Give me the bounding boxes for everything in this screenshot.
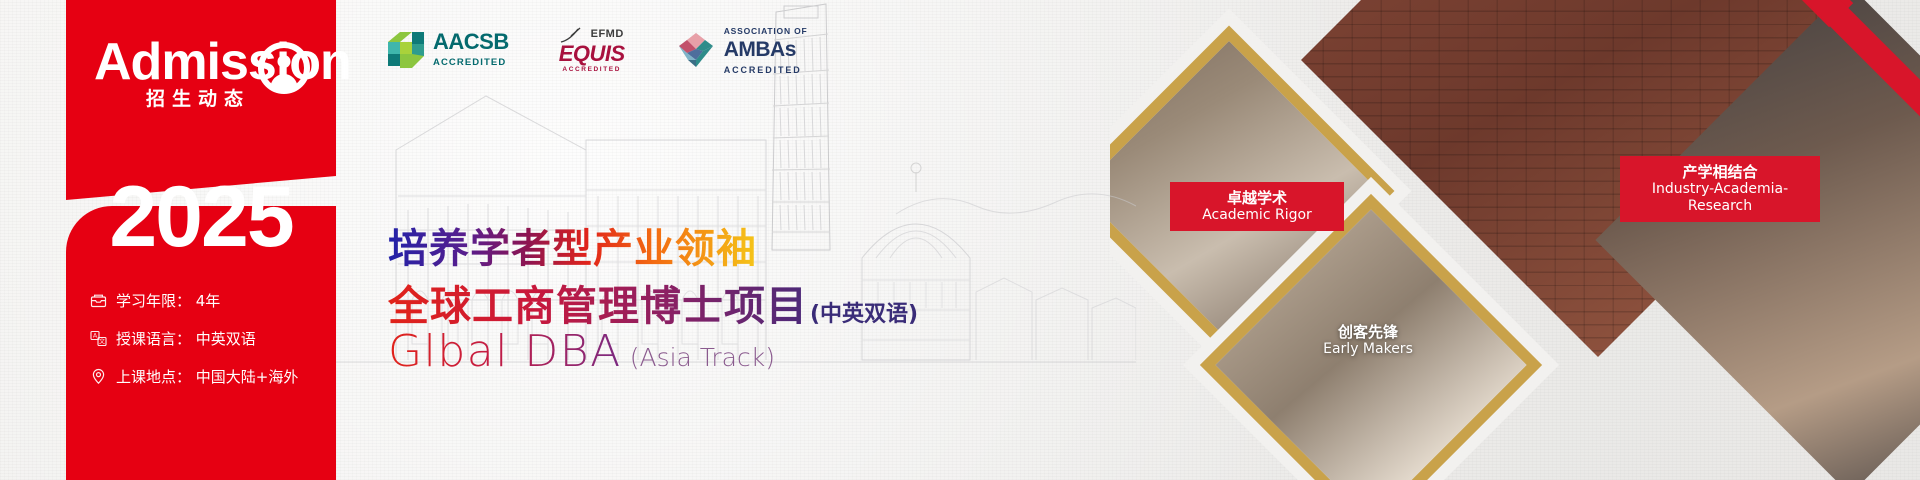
center-content: AACSB ACCREDITED EFMD EQUIS ACCREDITED: [336, 0, 1136, 480]
info-row-language: A 文 授课语言： 中英双语: [90, 328, 340, 349]
label-industry-academia: 产学相结合 Industry-Academia-Research: [1620, 156, 1820, 222]
admission-logo: Admission 招生动态: [94, 36, 344, 146]
calendar-icon: [90, 292, 107, 309]
label-academic-rigor-cn: 卓越学术: [1184, 189, 1330, 207]
program-info-list: 学习年限： 4年 A 文 授课语言： 中英双语: [90, 290, 340, 404]
svg-text:A: A: [93, 333, 98, 340]
svg-text:文: 文: [99, 338, 105, 346]
label-academic-rigor-en: Academic Rigor: [1184, 207, 1330, 224]
aacsb-text: AACSB ACCREDITED: [433, 31, 509, 69]
person-body-shape: [271, 74, 298, 89]
admission-year: 2025: [66, 174, 336, 260]
efmd-text: EFMD: [591, 29, 624, 40]
photo-collage: 卓越学术 Academic Rigor 产学相结合 Industry-Acade…: [1110, 0, 1920, 480]
left-red-panel: Admission 招生动态 2025 学习年限： 4年: [66, 0, 336, 480]
info-row-location: 上课地点： 中国大陆+海外: [90, 366, 340, 387]
info-row-duration-text: 学习年限： 4年: [116, 290, 220, 311]
amba-diamond-icon: [675, 29, 717, 71]
admission-wordmark-cn: 招生动态: [146, 84, 250, 111]
admission-banner: 卓越学术 Academic Rigor 产学相结合 Industry-Acade…: [0, 0, 1920, 480]
headline-tagline: 培养学者型产业领袖: [388, 216, 757, 274]
amba-name: AMBAs: [724, 38, 796, 61]
accreditation-aacsb: AACSB ACCREDITED: [386, 30, 509, 70]
headline-asia-track: (Asia Track): [630, 343, 775, 377]
label-industry-academia-en: Industry-Academia-Research: [1634, 181, 1806, 215]
aacsb-squares-icon: [386, 30, 426, 70]
aacsb-sub: ACCREDITED: [433, 57, 506, 68]
accreditation-amba: ASSOCIATION OF AMBAs ACCREDITED: [675, 22, 808, 78]
amba-text: ASSOCIATION OF AMBAs ACCREDITED: [724, 22, 808, 78]
headline-program-title: 全球工商管理博士项目 (中英双语): [388, 272, 918, 332]
accreditation-logos: AACSB ACCREDITED EFMD EQUIS ACCREDITED: [386, 22, 807, 78]
label-early-makers-en: Early Makers: [1284, 341, 1452, 358]
label-academic-rigor: 卓越学术 Academic Rigor: [1170, 182, 1344, 231]
person-badge-icon: [258, 42, 310, 94]
equis-sub: ACCREDITED: [559, 67, 625, 74]
info-row-language-text: 授课语言： 中英双语: [116, 328, 256, 349]
headline-bilingual-tag: (中英双语): [810, 296, 918, 332]
headline-dba-en: Glbal DBA: [388, 326, 622, 377]
headline-program-title-en: Glbal DBA (Asia Track): [388, 326, 775, 377]
amba-assoc: ASSOCIATION OF: [724, 26, 808, 36]
equis-name: EQUIS: [559, 41, 625, 66]
label-early-makers-cn: 创客先锋: [1284, 323, 1452, 341]
translate-icon: A 文: [90, 330, 107, 347]
headline-program-title-main: 全球工商管理博士项目: [388, 272, 808, 332]
info-row-duration: 学习年限： 4年: [90, 290, 340, 311]
amba-sub: ACCREDITED: [724, 65, 802, 75]
accreditation-equis: EFMD EQUIS ACCREDITED: [559, 27, 625, 74]
person-head-shape: [278, 55, 291, 68]
location-pin-icon: [90, 368, 107, 385]
info-row-location-text: 上课地点： 中国大陆+海外: [116, 366, 298, 387]
label-early-makers: 创客先锋 Early Makers: [1270, 316, 1466, 365]
aacsb-name: AACSB: [433, 29, 509, 54]
label-industry-academia-cn: 产学相结合: [1634, 163, 1806, 181]
